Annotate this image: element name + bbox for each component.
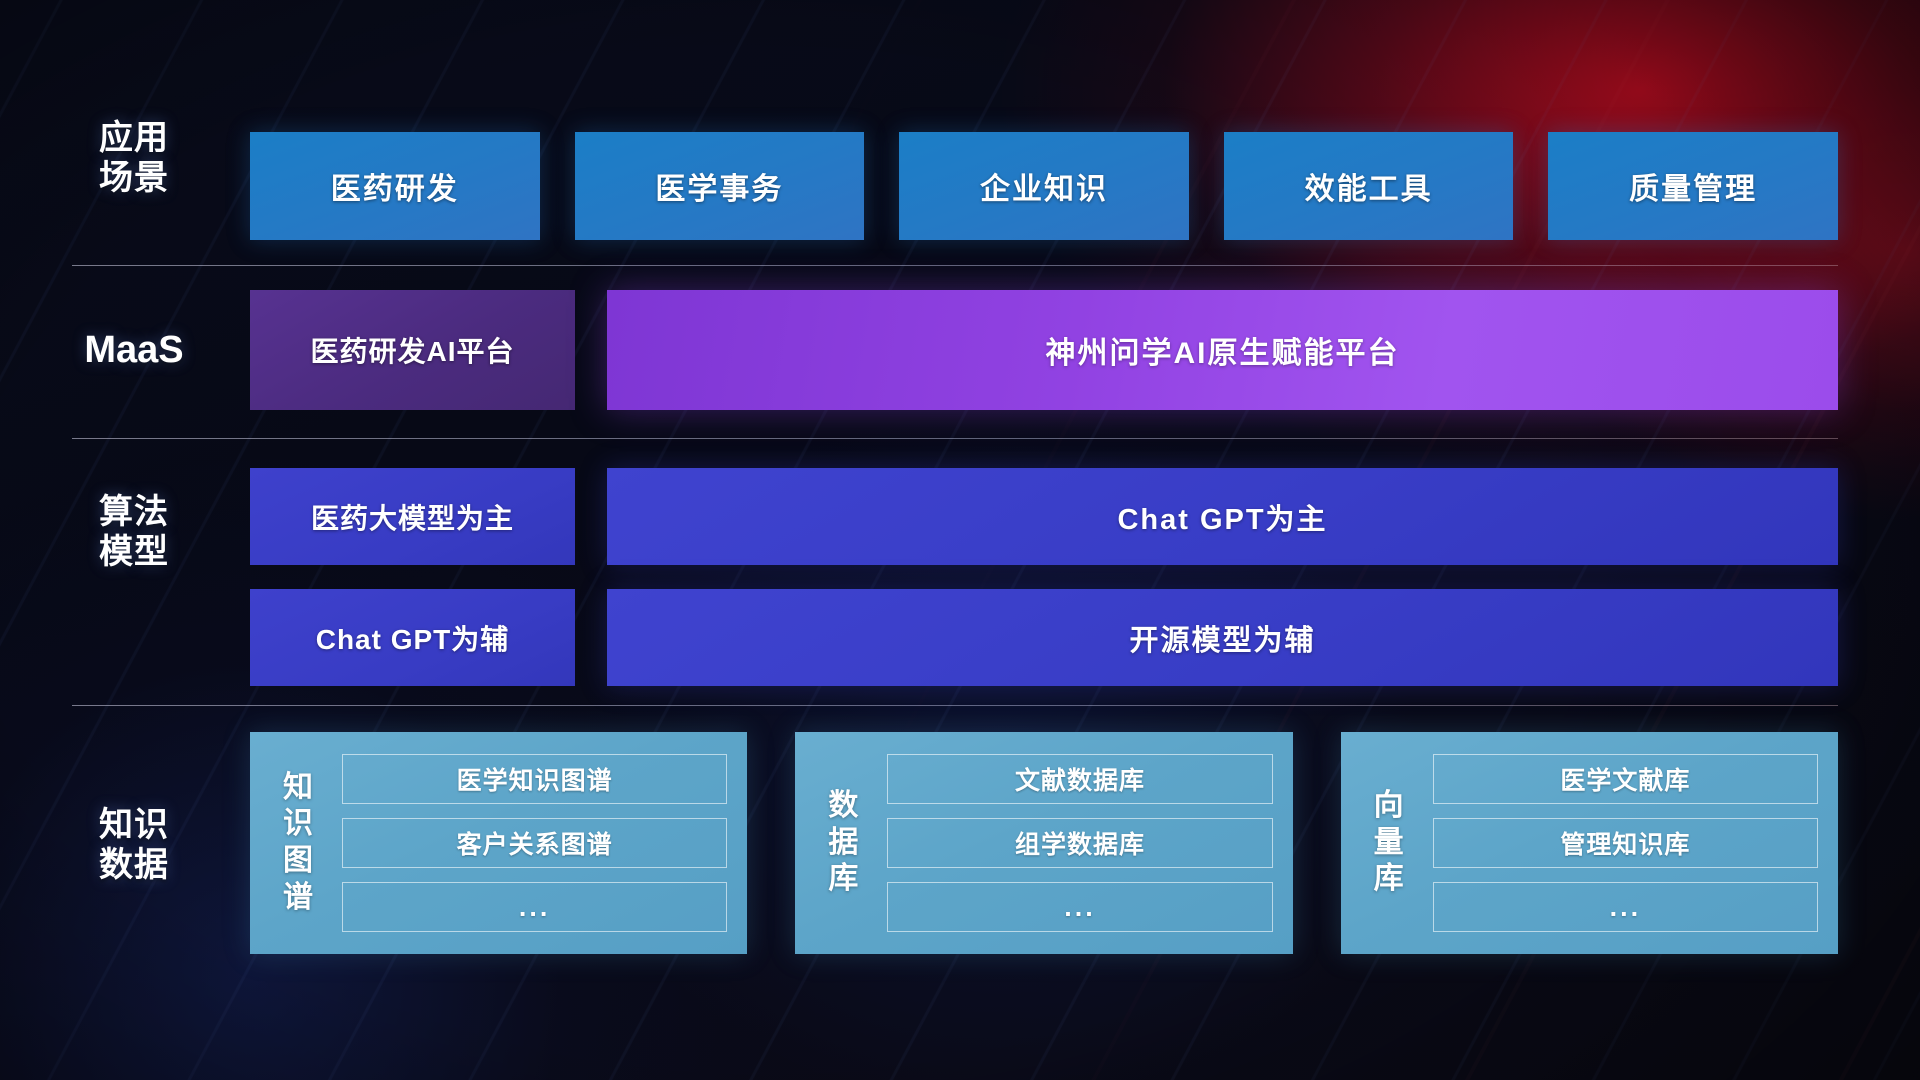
app-scenario-box-2[interactable]: 医学事务: [575, 132, 865, 240]
side-label-char: 识: [283, 806, 313, 843]
maas-right-label: 神州问学AI原生赋能平台: [1046, 328, 1400, 372]
row-label-line: 数据: [72, 845, 196, 885]
divider-after-maas: [72, 438, 1838, 439]
architecture-diagram: 应用 场景 医药研发 医学事务 企业知识 效能工具 质量管理 MaaS 医药研发…: [0, 0, 1920, 1080]
algorithm-models-line-1: 医药大模型为主 Chat GPT为主: [250, 468, 1838, 565]
algo-primary-pharma-model-box[interactable]: 医药大模型为主: [250, 468, 575, 565]
side-label-char: 据: [828, 825, 858, 862]
app-scenario-label: 效能工具: [1305, 164, 1433, 208]
knowledge-item-label: ...: [519, 892, 551, 923]
side-label-char: 量: [1374, 825, 1404, 862]
knowledge-item[interactable]: 组学数据库: [887, 818, 1272, 868]
maas-shenzhou-wenxue-platform-box[interactable]: 神州问学AI原生赋能平台: [607, 290, 1838, 410]
knowledge-panel-side-label-vector-store: 向 量 库: [1361, 754, 1417, 932]
app-scenario-label: 医学事务: [655, 164, 783, 208]
knowledge-item-more[interactable]: ...: [1433, 882, 1818, 932]
knowledge-item-label: 医学知识图谱: [457, 761, 613, 797]
algo-label: Chat GPT为主: [1117, 496, 1327, 538]
side-label-char: 图: [283, 843, 313, 880]
knowledge-item-label: 组学数据库: [1015, 825, 1145, 861]
knowledge-panel-knowledge-graph[interactable]: 知 识 图 谱 医学知识图谱 客户关系图谱 ...: [250, 732, 747, 954]
side-label-char: 谱: [283, 880, 313, 917]
knowledge-item-label: ...: [1610, 892, 1642, 923]
knowledge-item-label: 文献数据库: [1015, 761, 1145, 797]
knowledge-item[interactable]: 客户关系图谱: [342, 818, 727, 868]
side-label-char: 知: [283, 770, 313, 807]
row-label-line: MaaS: [72, 328, 196, 373]
knowledge-item-label: 管理知识库: [1560, 825, 1690, 861]
knowledge-item-label: 医学文献库: [1560, 761, 1690, 797]
knowledge-item-label: 客户关系图谱: [457, 825, 613, 861]
knowledge-item-list: 医学文献库 管理知识库 ...: [1433, 754, 1818, 932]
side-label-char: 库: [828, 861, 858, 898]
row-label-maas: MaaS: [72, 328, 196, 373]
knowledge-item[interactable]: 文献数据库: [887, 754, 1272, 804]
knowledge-item-list: 医学知识图谱 客户关系图谱 ...: [342, 754, 727, 932]
knowledge-item-list: 文献数据库 组学数据库 ...: [887, 754, 1272, 932]
app-scenario-box-4[interactable]: 效能工具: [1224, 132, 1514, 240]
knowledge-panel-side-label-database: 数 据 库: [815, 754, 871, 932]
application-scenarios-row: 医药研发 医学事务 企业知识 效能工具 质量管理: [250, 132, 1838, 240]
app-scenario-box-5[interactable]: 质量管理: [1548, 132, 1838, 240]
knowledge-item[interactable]: 管理知识库: [1433, 818, 1818, 868]
row-label-application-scenarios: 应用 场景: [72, 118, 196, 198]
knowledge-panel-database[interactable]: 数 据 库 文献数据库 组学数据库 ...: [795, 732, 1292, 954]
row-label-line: 模型: [72, 532, 196, 572]
knowledge-data-row: 知 识 图 谱 医学知识图谱 客户关系图谱 ... 数 据: [250, 732, 1838, 954]
algo-primary-chatgpt-box[interactable]: Chat GPT为主: [607, 468, 1838, 565]
side-label-char: 数: [828, 788, 858, 825]
row-label-line: 场景: [72, 158, 196, 198]
row-label-knowledge-data: 知识 数据: [72, 805, 196, 885]
row-label-line: 算法: [72, 492, 196, 532]
knowledge-item[interactable]: 医学文献库: [1433, 754, 1818, 804]
knowledge-item[interactable]: 医学知识图谱: [342, 754, 727, 804]
knowledge-panel-side-label-knowledge-graph: 知 识 图 谱: [270, 754, 326, 932]
algo-label: 医药大模型为主: [311, 497, 514, 537]
app-scenario-label: 质量管理: [1629, 164, 1757, 208]
maas-left-label: 医药研发AI平台: [310, 330, 514, 370]
knowledge-panel-vector-store[interactable]: 向 量 库 医学文献库 管理知识库 ...: [1341, 732, 1838, 954]
knowledge-item-more[interactable]: ...: [342, 882, 727, 932]
app-scenario-label: 医药研发: [331, 164, 459, 208]
algo-label: 开源模型为辅: [1129, 617, 1315, 659]
app-scenario-label: 企业知识: [980, 164, 1108, 208]
divider-after-algorithm-models: [72, 705, 1838, 706]
maas-row: 医药研发AI平台 神州问学AI原生赋能平台: [250, 290, 1838, 410]
row-label-line: 应用: [72, 118, 196, 158]
algo-secondary-opensource-box[interactable]: 开源模型为辅: [607, 589, 1838, 686]
app-scenario-box-1[interactable]: 医药研发: [250, 132, 540, 240]
side-label-char: 向: [1374, 788, 1404, 825]
algo-secondary-chatgpt-box[interactable]: Chat GPT为辅: [250, 589, 575, 686]
knowledge-item-label: ...: [1064, 892, 1096, 923]
algorithm-models-line-2: Chat GPT为辅 开源模型为辅: [250, 589, 1838, 686]
algorithm-models-row: 医药大模型为主 Chat GPT为主 Chat GPT为辅 开源模型为辅: [250, 468, 1838, 686]
side-label-char: 库: [1374, 861, 1404, 898]
divider-after-application-scenarios: [72, 265, 1838, 266]
algo-label: Chat GPT为辅: [316, 618, 510, 658]
row-label-algorithm-models: 算法 模型: [72, 492, 196, 572]
knowledge-item-more[interactable]: ...: [887, 882, 1272, 932]
maas-pharma-ai-platform-box[interactable]: 医药研发AI平台: [250, 290, 575, 410]
row-label-line: 知识: [72, 805, 196, 845]
app-scenario-box-3[interactable]: 企业知识: [899, 132, 1189, 240]
